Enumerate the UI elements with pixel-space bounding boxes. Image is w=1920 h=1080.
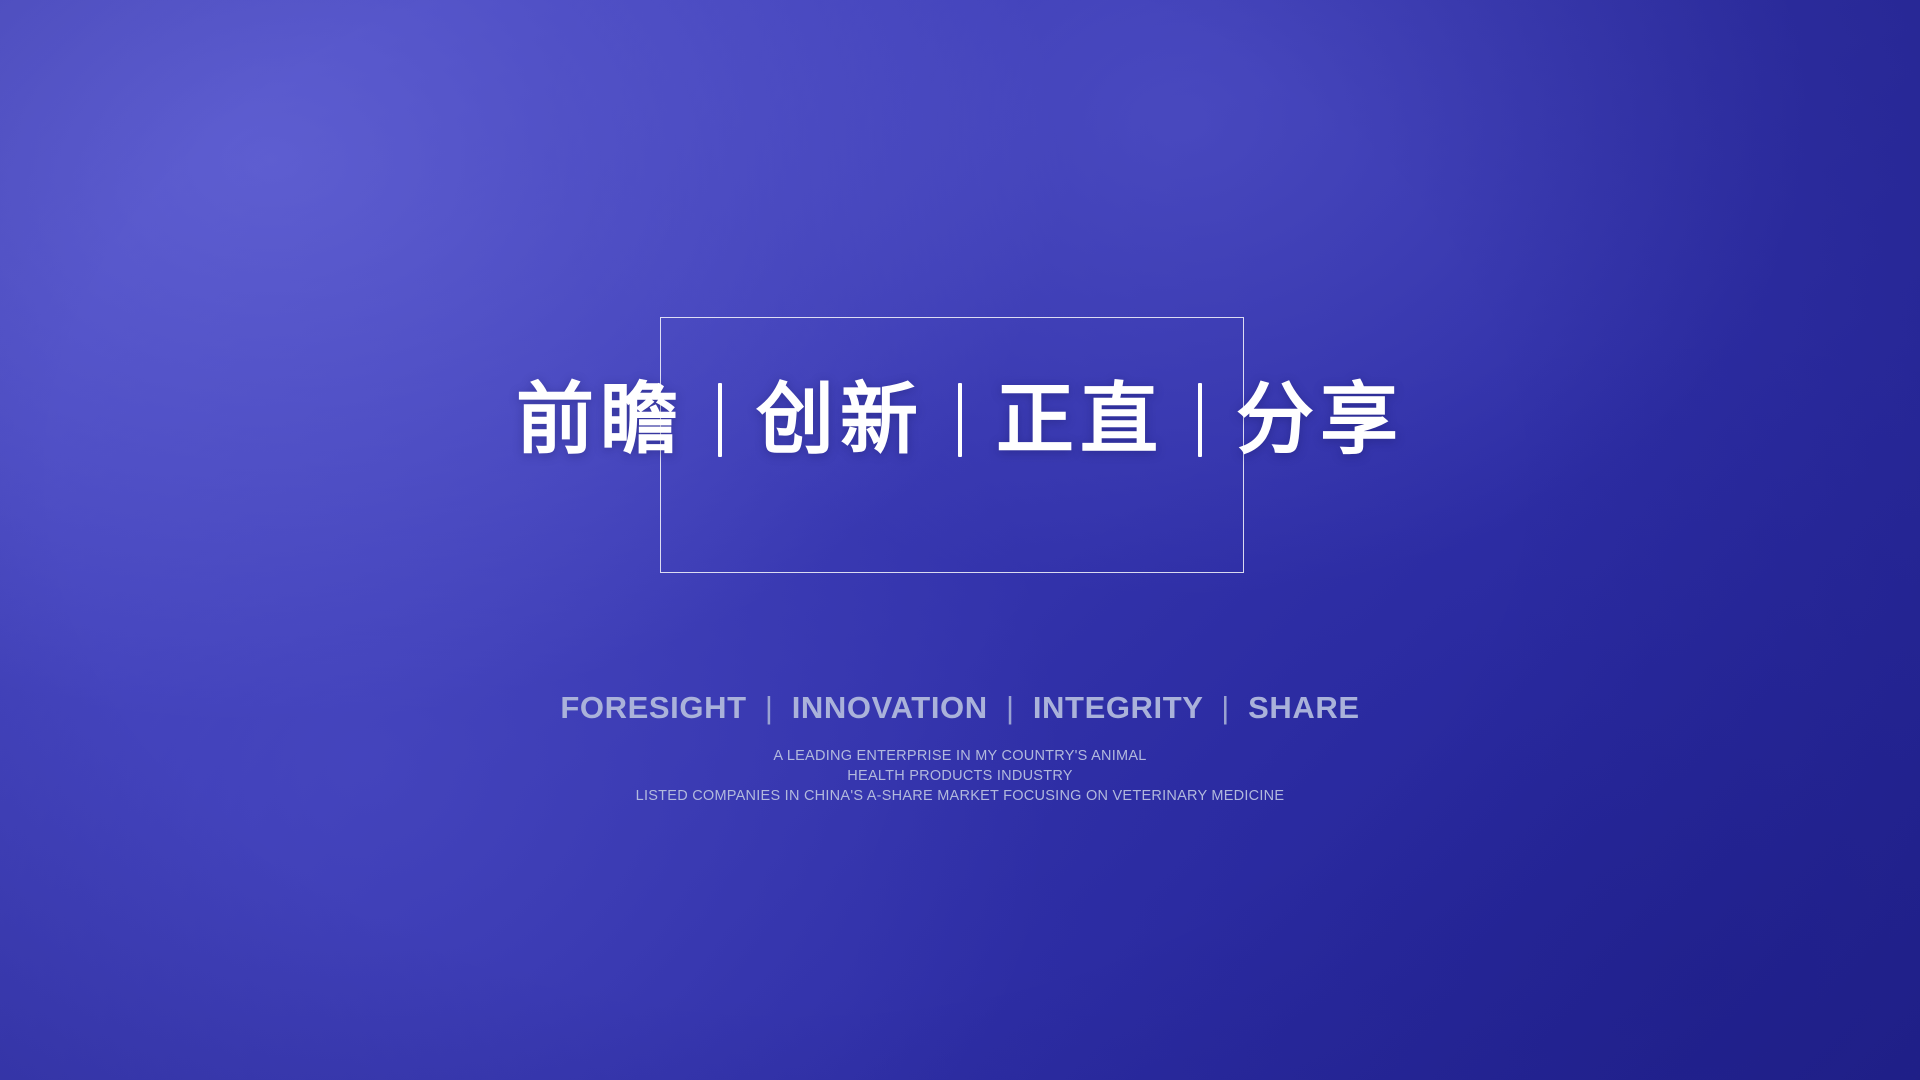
- headline-word-integrity: 正直: [972, 381, 1188, 459]
- subline-word-innovation: INNOVATION: [792, 690, 988, 725]
- description-line-3: LISTED COMPANIES IN CHINA'S A-SHARE MARK…: [0, 786, 1920, 806]
- headline-separator-2: [958, 383, 962, 457]
- company-description: A LEADING ENTERPRISE IN MY COUNTRY'S ANI…: [0, 746, 1920, 806]
- subline-values-en: FORESIGHT | INNOVATION | INTEGRITY | SHA…: [0, 690, 1920, 726]
- description-line-1: A LEADING ENTERPRISE IN MY COUNTRY'S ANI…: [0, 746, 1920, 766]
- headline-word-share: 分享: [1212, 381, 1428, 459]
- subline-separator-3: |: [1212, 690, 1239, 725]
- subline-word-integrity: INTEGRITY: [1033, 690, 1203, 725]
- description-line-2: HEALTH PRODUCTS INDUSTRY: [0, 766, 1920, 786]
- subline-word-foresight: FORESIGHT: [560, 690, 746, 725]
- headline-separator-3: [1198, 383, 1202, 457]
- headline-separator-1: [718, 383, 722, 457]
- subline-separator-2: |: [997, 690, 1024, 725]
- headline-word-foresight: 前瞻: [492, 381, 708, 459]
- subline-separator-1: |: [756, 690, 783, 725]
- banner-stage: 前瞻 创新 正直 分享 FORESIGHT | INNOVATION | INT…: [0, 0, 1920, 1080]
- headline-values-cn: 前瞻 创新 正直 分享: [0, 381, 1920, 459]
- headline-word-innovation: 创新: [732, 381, 948, 459]
- banner-content: 前瞻 创新 正直 分享 FORESIGHT | INNOVATION | INT…: [0, 0, 1920, 1080]
- subline-word-share: SHARE: [1248, 690, 1360, 725]
